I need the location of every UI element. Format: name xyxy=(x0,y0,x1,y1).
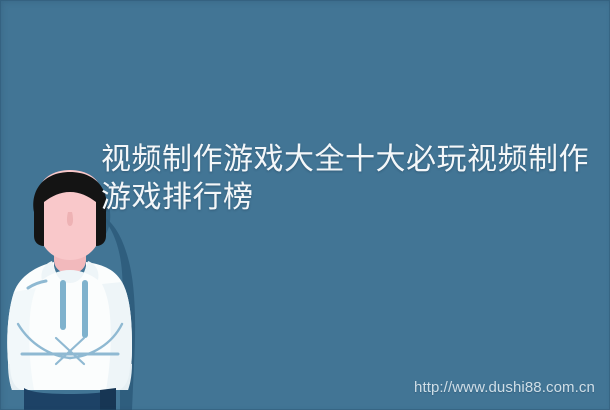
drawstring-left xyxy=(60,280,66,330)
article-cover-image: 视频制作游戏大全十大必玩视频制作游戏排行榜 http://www.dushi88… xyxy=(0,0,610,410)
nose xyxy=(67,212,73,226)
hair-left-lock xyxy=(34,206,44,246)
drawstring-right xyxy=(82,280,88,338)
page-title: 视频制作游戏大全十大必玩视频制作游戏排行榜 xyxy=(101,141,593,217)
pants-shadow xyxy=(100,388,116,410)
watermark-url: http://www.dushi88.com.cn xyxy=(414,379,595,396)
